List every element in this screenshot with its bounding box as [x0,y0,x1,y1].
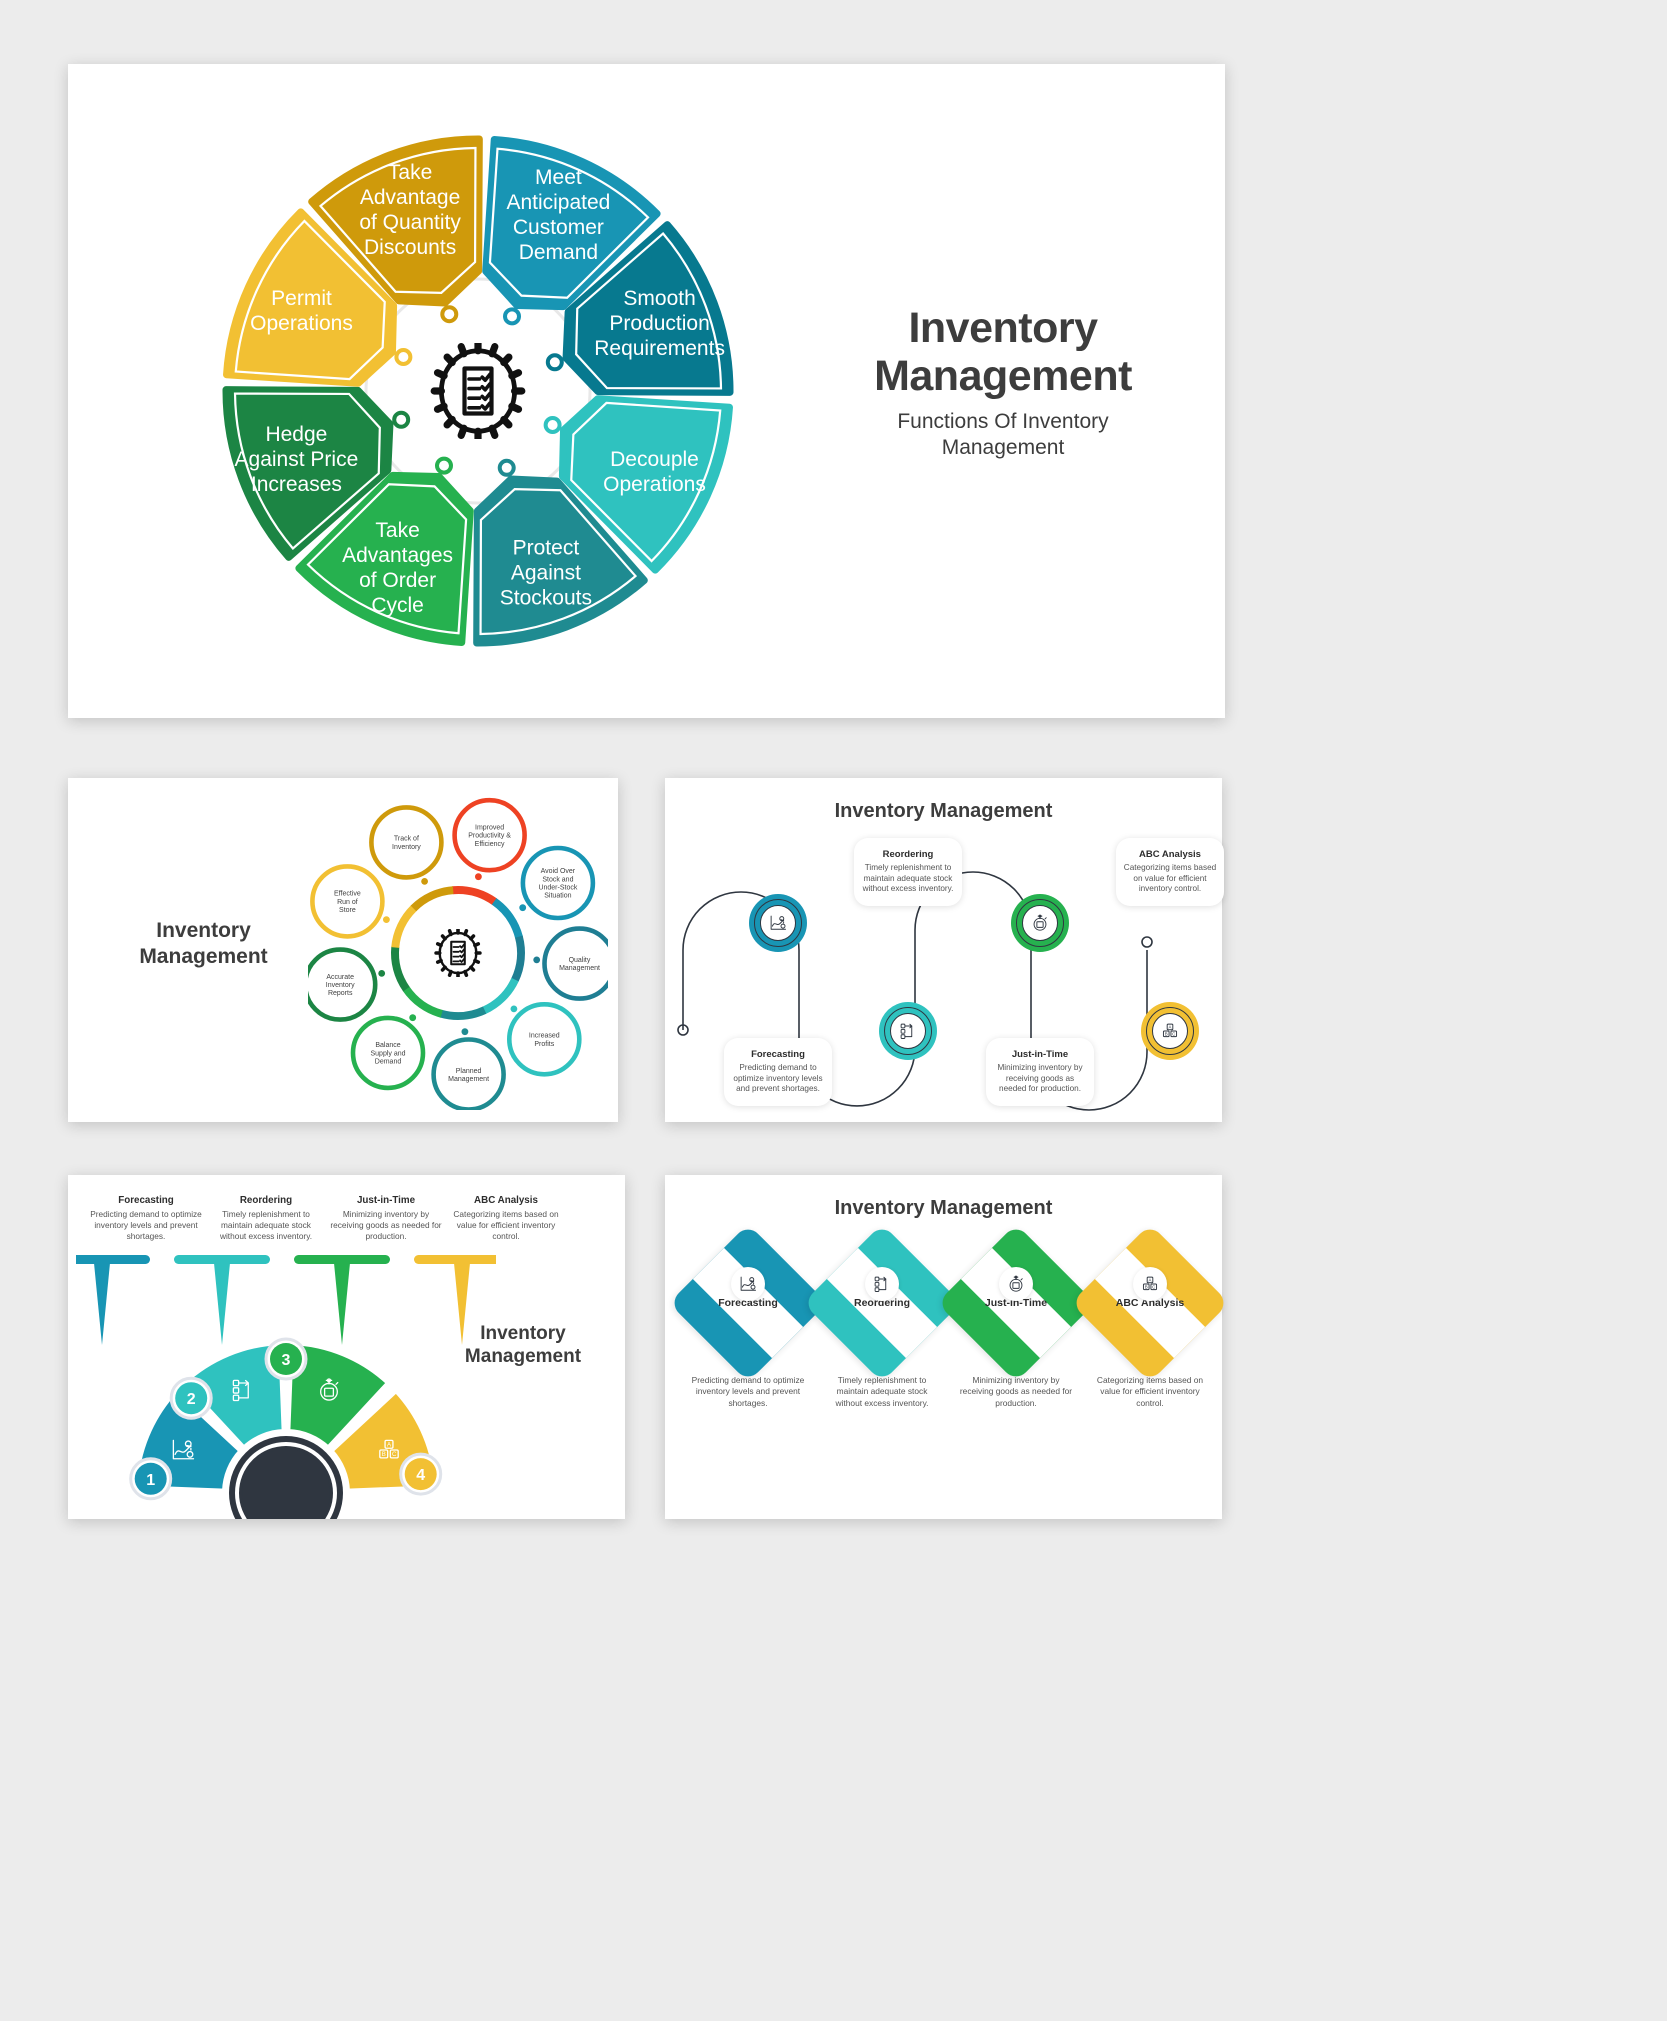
hub-bubble-label: Management [559,965,600,972]
hero-text-block: Inventory Management Functions Of Invent… [803,304,1203,461]
svg-text:B: B [382,1452,386,1459]
fan-pin-bar [294,1255,390,1264]
hub-bubble-label: Management [448,1076,489,1083]
hub-bubble-label: Under-Stock [538,885,577,892]
wheel-segment-dot [442,307,456,321]
svg-text:A: A [1149,1278,1152,1283]
diamond-description: Minimizing inventory by receiving goods … [951,1375,1081,1409]
slide-flow-path[interactable]: Inventory Management ForecastingPredicti… [665,778,1222,1122]
diamond-description: Categorizing items based on value for ef… [1085,1375,1215,1409]
hub-bubble-label: Supply and [370,1050,405,1057]
wheel-segment-label: Advantage [360,186,460,209]
hub-bubble-label: Increased [529,1033,560,1040]
wheel-segment-label: Operations [250,312,353,335]
hub-bubble-label: Reports [328,990,353,997]
wheel-segment-label: Against Price [235,448,359,471]
flow-stage-ring[interactable] [749,894,807,952]
functions-wheel: MeetAnticipatedCustomerDemandSmoothProdu… [178,99,778,689]
wheel-segment-label: Cycle [371,594,424,617]
hub-bubble-label: Store [339,907,356,914]
svg-text:C: C [392,1452,397,1459]
flow-card-heading: Just-in-Time [993,1049,1087,1060]
hub-bubble-label: Demand [375,1059,402,1066]
flow-card-body: Predicting demand to optimize inventory … [731,1063,825,1095]
abc-blocks-icon: ABC [1160,1021,1180,1041]
slide-hero[interactable]: MeetAnticipatedCustomerDemandSmoothProdu… [68,64,1225,718]
wheel-segment-label: Meet [535,166,582,189]
fan-pin-needle [334,1263,350,1345]
flow-card[interactable]: ForecastingPredicting demand to optimize… [724,1038,832,1106]
forecast-chart-icon [768,913,788,933]
flow-stage-icon-holder [1022,905,1058,941]
diamond-item[interactable]: ReorderingTimely replenishment to mainta… [817,1247,947,1409]
fan-wedge-icon [169,1436,197,1464]
fan-number-label: 1 [146,1472,155,1489]
wheel-segment-label: Smooth [623,287,695,310]
hero-subtitle: Functions Of Inventory Management [803,409,1203,460]
wheel-segment-label: Operations [603,473,706,496]
hub-ring-arc [395,947,406,989]
fan-pin-needle [94,1263,110,1345]
gear-checklist-icon [434,929,482,977]
fan-number-label: 4 [416,1467,425,1484]
svg-text:A: A [387,1442,392,1449]
svg-text:C: C [1152,1284,1155,1289]
hub-bubble-label: Balance [375,1042,400,1049]
hub-bubble-label: Track of [394,836,419,843]
hero-subtitle-line1: Functions Of Inventory [803,409,1203,435]
wheel-segment-label: Against [511,562,581,585]
fan-graphic: 1234ABC [76,1193,496,1519]
stopwatch-box-icon [1030,913,1050,933]
diamond-item[interactable]: ABCABC AnalysisCategorizing items based … [1085,1247,1215,1409]
wheel-segment-dot [546,418,560,432]
hub-bubble-label: Inventory [326,982,355,989]
hub-bubble-label: Situation [544,893,571,900]
hub-bubble-label: Avoid Over [541,868,576,875]
wheel-segment-label: Production [609,312,709,335]
flow-stage[interactable]: ABC AnalysisCategorizing items based on … [1105,838,1235,1106]
flow-card[interactable]: ABC AnalysisCategorizing items based on … [1116,838,1224,906]
hub-bubble-dot [409,1014,416,1021]
hub-center-icon [432,927,484,979]
wheel-segment-label: Take [388,161,432,184]
hub-bubble-dot [421,878,428,885]
slide-deck-page: MeetAnticipatedCustomerDemandSmoothProdu… [0,0,1667,2021]
gear-checklist-icon [430,343,526,439]
hub-bubble-label: Productivity & [468,833,511,840]
page-title: Inventory Management [803,304,1203,400]
fan-wedge-icon [315,1376,343,1404]
forecast-chart-icon [738,1274,758,1294]
flow-card-heading: Reordering [861,849,955,860]
wheel-segment-label: Take [375,519,419,542]
wheel-segment-dot [505,309,519,323]
wheel-segment-label: Protect [513,537,580,560]
flow-stage-ring[interactable] [1011,894,1069,952]
flow-stage[interactable]: ReorderingTimely replenishment to mainta… [843,838,973,1106]
slide-diamonds[interactable]: Inventory Management ForecastingPredicti… [665,1175,1222,1519]
wheel-segment-label: Customer [513,216,604,239]
stopwatch-box-icon [315,1376,343,1404]
flow-card[interactable]: Just-in-TimeMinimizing inventory by rece… [986,1038,1094,1106]
diamond-shape-wrap[interactable]: ABCABC Analysis [1094,1247,1206,1359]
hub-ring-arc [515,937,521,981]
hub-title-line2: Management [96,944,311,970]
hub-slide-title: Inventory Management [96,918,311,969]
fan-title-line2: Management [439,1346,607,1369]
wheel-segment-label: Increases [251,473,342,496]
wheel-segment-label: Demand [519,241,598,264]
hub-bubble-label: Profits [534,1041,554,1048]
fan-slide-title: Inventory Management [439,1323,607,1369]
hub-title-line1: Inventory [96,918,311,944]
fan-pin-bar [414,1255,496,1264]
hero-subtitle-line2: Management [803,435,1203,461]
wheel-segment-label: Hedge [265,423,327,446]
diamond-shape-wrap[interactable]: Reordering [826,1247,938,1359]
fan-pin-bar [174,1255,270,1264]
flow-card-body: Minimizing inventory by receiving goods … [993,1063,1087,1095]
hub-bubble-label: Quality [569,957,591,964]
abc-blocks-icon: ABC [1140,1274,1160,1294]
hub-bubble-dot [378,970,385,977]
diamond-shape-wrap[interactable]: Forecasting [692,1247,804,1359]
svg-text:A: A [1169,1025,1172,1030]
hub-bubble-dot [511,1006,518,1013]
fan-wedge-icon [229,1376,257,1404]
reorder-loop-icon [872,1274,892,1294]
svg-text:B: B [1145,1284,1148,1289]
reorder-loop-icon [229,1376,257,1404]
wheel-center-icon [426,339,530,443]
hub-ring-arc [395,908,414,948]
flow-card-heading: Forecasting [731,1049,825,1060]
forecast-chart-icon [169,1436,197,1464]
hero-title-line2: Management [803,352,1203,400]
wheel-segment-dot [500,461,514,475]
diamond-description: Timely replenishment to maintain adequat… [817,1375,947,1409]
wheel-segment-dot [437,459,451,473]
hub-bubble-dot [533,957,540,964]
hub-ring-arc [453,890,495,902]
flow-card-body: Timely replenishment to maintain adequat… [861,863,955,895]
hub-bubble-label: Improved [475,824,504,831]
diamond-icon-circle [999,1267,1033,1301]
diamond-item[interactable]: Just-in-TimeMinimizing inventory by rece… [951,1247,1081,1409]
hub-bubble-label: Planned [456,1068,482,1075]
abc-blocks-icon: ABC [375,1436,403,1464]
diamond-slide-title: Inventory Management [665,1197,1222,1220]
hub-bubble-label: Efficiency [475,841,505,848]
fan-title-line1: Inventory [439,1323,607,1346]
diamond-shape-wrap[interactable]: Just-in-Time [960,1247,1072,1359]
fan-number-label: 3 [282,1352,291,1369]
flow-stage[interactable]: ForecastingPredicting demand to optimize… [713,838,843,1106]
flow-card[interactable]: ReorderingTimely replenishment to mainta… [854,838,962,906]
flow-stage-icon-holder [890,1013,926,1049]
wheel-segment-label: Stockouts [500,587,592,610]
slide-fan-chart[interactable]: ForecastingPredicting demand to optimize… [68,1175,625,1519]
hub-bubble-label: Stock and [542,876,573,883]
wheel-segment-dot [548,355,562,369]
hub-bubble-dot [475,873,482,880]
slide-hub-spokes[interactable]: Inventory Management ImprovedProductivit… [68,778,618,1122]
fan-pin-bar [76,1255,150,1264]
fan-wedge-icon: ABC [375,1436,403,1464]
reorder-loop-icon [898,1021,918,1041]
hub-ring-arc [484,980,515,1011]
hub-ring-arc [406,989,442,1014]
wheel-segment-label: Requirements [594,337,725,360]
diamond-icon-circle: ABC [1133,1267,1167,1301]
flow-stage-icon-holder [760,905,796,941]
stopwatch-box-icon [1006,1274,1026,1294]
wheel-segment-label: Anticipated [506,191,610,214]
wheel-segment-dot [396,350,410,364]
flow-card-body: Categorizing items based on value for ef… [1123,863,1217,895]
hub-ring-arc [494,901,519,937]
hub-bubble-label: Effective [334,891,361,898]
hub-bubble-label: Run of [337,899,358,906]
diamond-icon-circle [731,1267,765,1301]
hub-bubble-dot [462,1028,469,1035]
diamond-description: Predicting demand to optimize inventory … [683,1375,813,1409]
hero-title-line1: Inventory [803,304,1203,352]
diamond-item[interactable]: ForecastingPredicting demand to optimize… [683,1247,813,1409]
wheel-segment-label: Discounts [364,236,456,259]
flow-stage-ring[interactable]: ABC [1141,1002,1199,1060]
flow-stage-ring[interactable] [879,1002,937,1060]
fan-number-label: 2 [187,1391,196,1408]
wheel-segment-label: of Order [359,569,436,592]
flow-stage[interactable]: Just-in-TimeMinimizing inventory by rece… [975,838,1105,1106]
flow-stage-icon-holder: ABC [1152,1013,1188,1049]
fan-pin-needle [214,1263,230,1345]
hub-bubble-label: Inventory [392,844,421,851]
svg-text:C: C [1172,1031,1175,1036]
wheel-segment-label: Permit [271,287,332,310]
flow-slide-title: Inventory Management [665,800,1222,823]
svg-text:B: B [1165,1031,1168,1036]
flow-card-heading: ABC Analysis [1123,849,1217,860]
hub-ring-arc [441,1010,485,1016]
wheel-segment-label: Advantages [342,544,453,567]
hub-bubble-dot [519,904,526,911]
hub-bubble-label: Accurate [326,974,354,981]
hub-spokes-graphic: ImprovedProductivity &EfficiencyAvoid Ov… [308,790,608,1110]
wheel-segment-label: Decouple [610,448,699,471]
wheel-segment-dot [394,413,408,427]
hub-bubble-dot [383,916,390,923]
diamond-icon-circle [865,1267,899,1301]
hub-ring-arc [413,890,453,908]
wheel-segment-label: of Quantity [359,211,461,234]
